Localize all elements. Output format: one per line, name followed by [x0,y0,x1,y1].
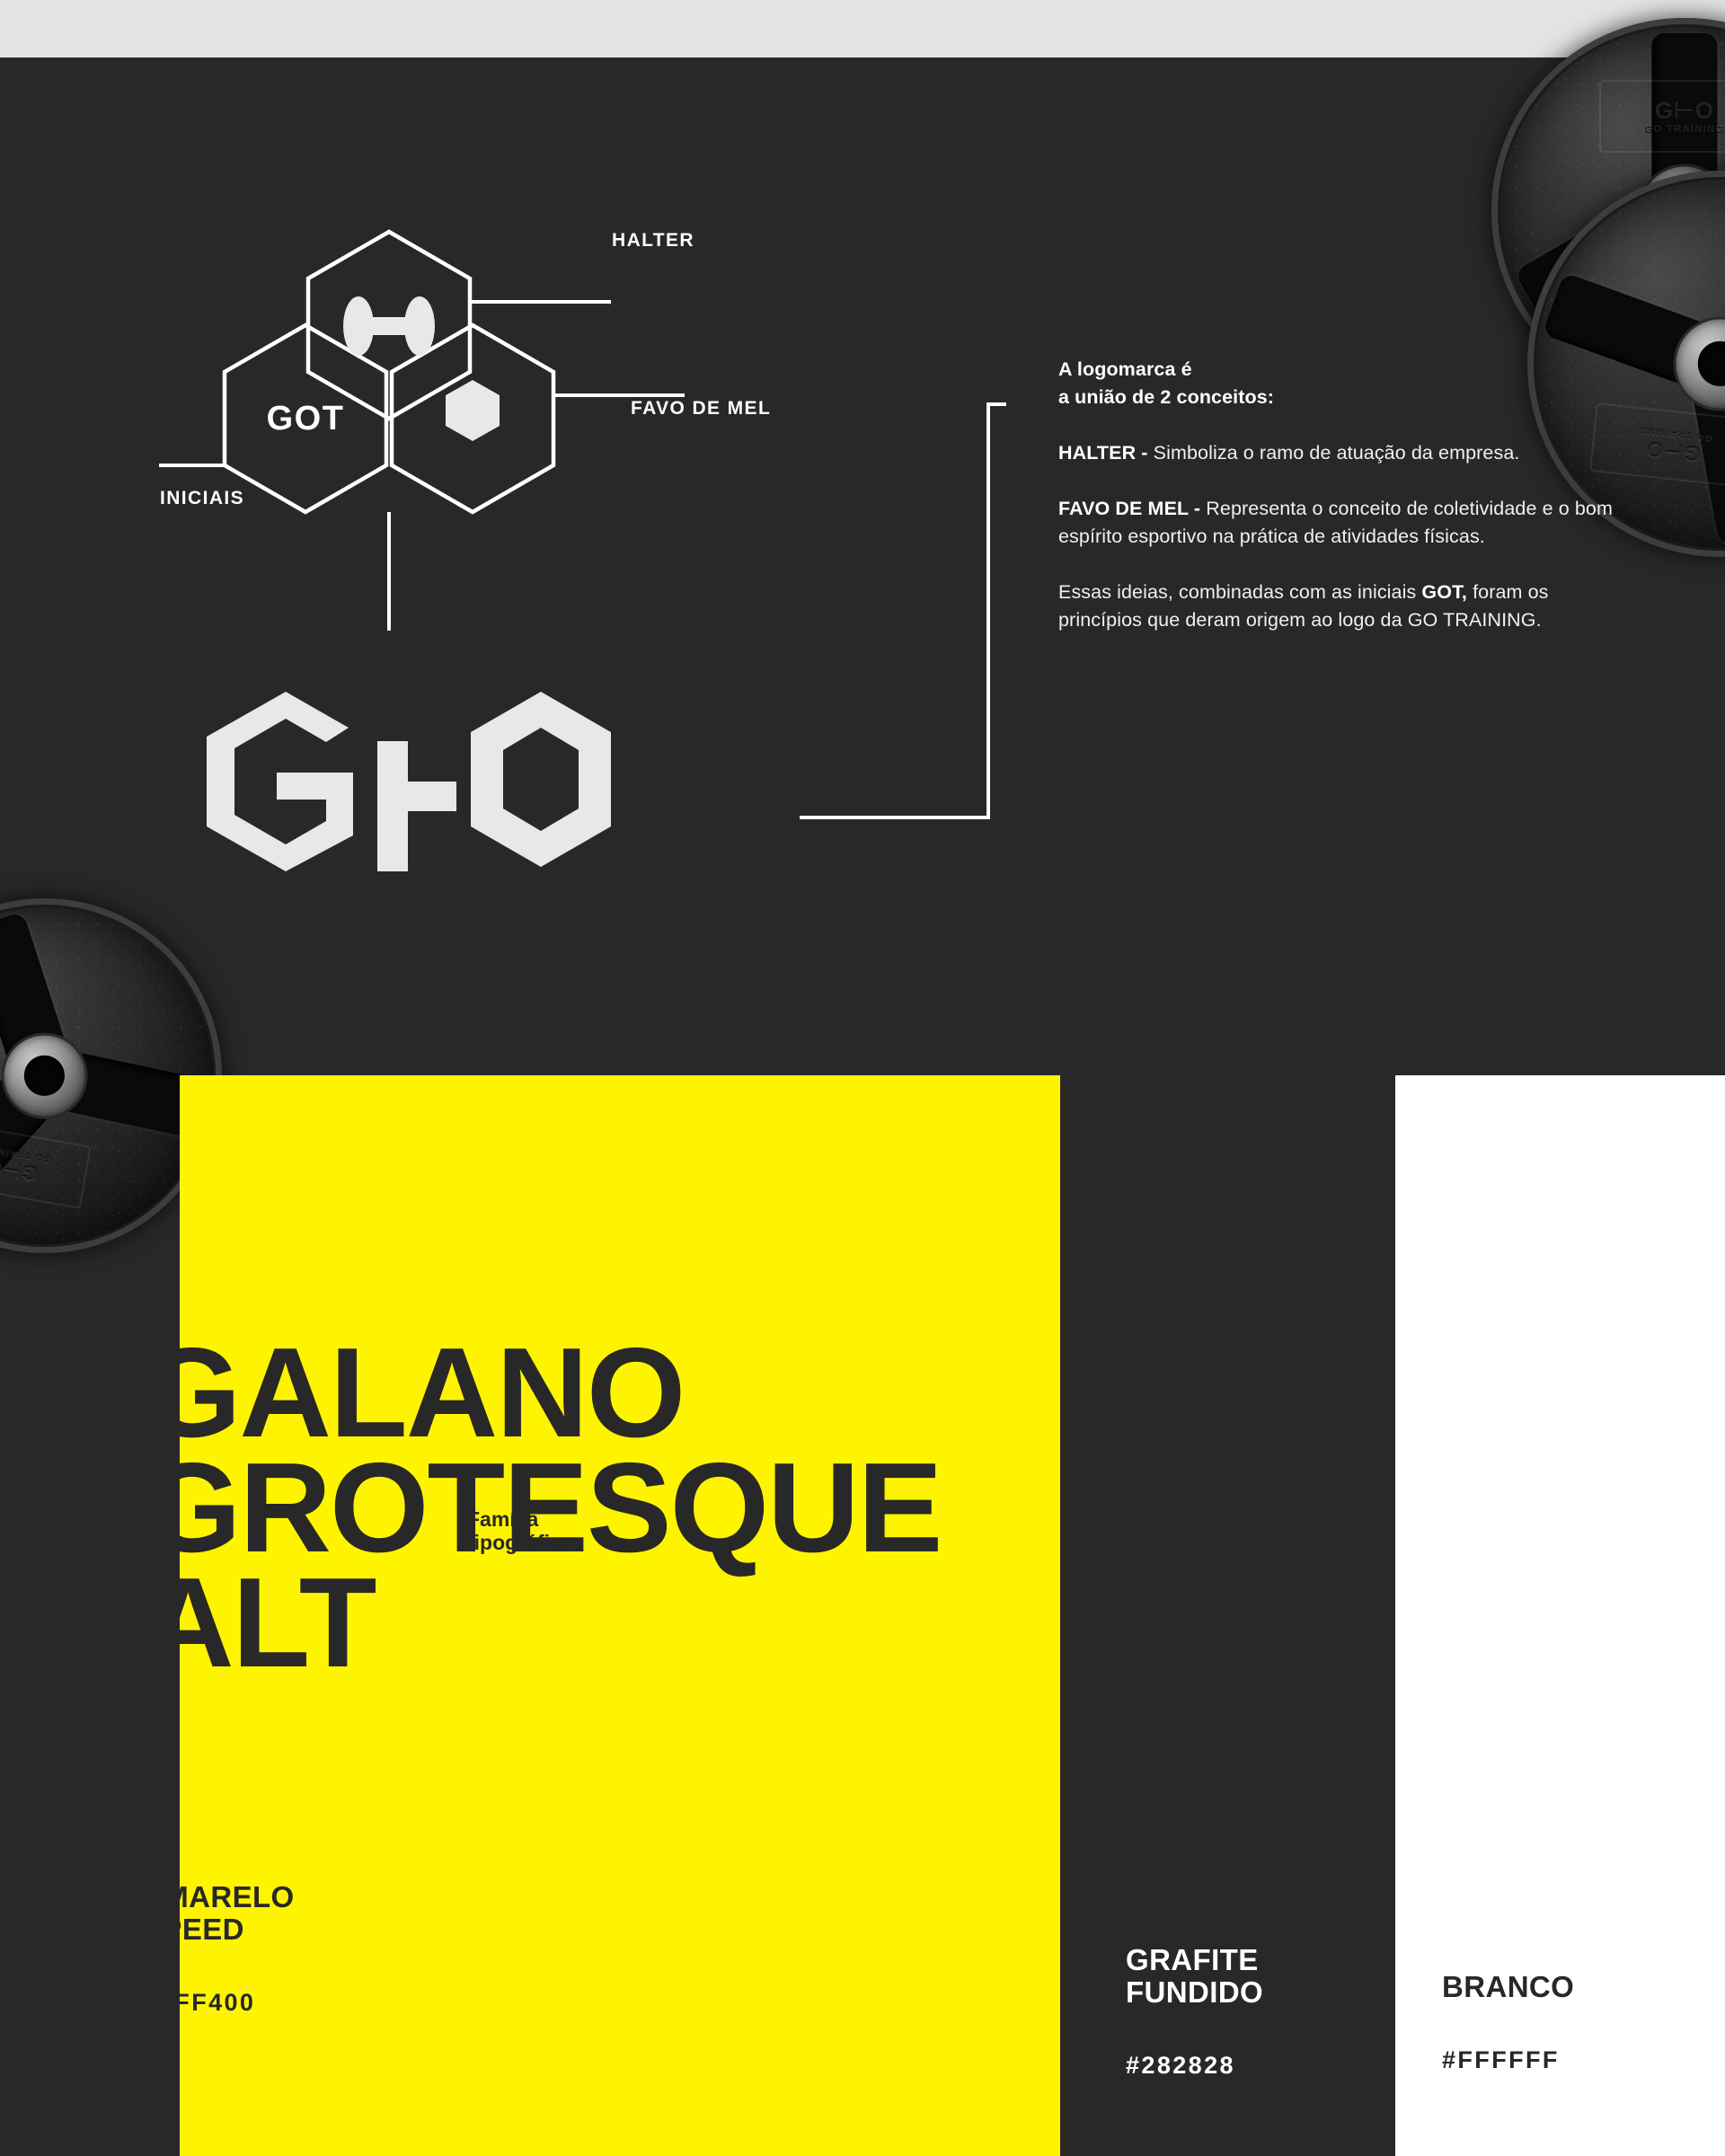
diagram-label-halter: HALTER [612,230,694,252]
diagram-initials-text: GOT [267,400,345,437]
info-body-halter: Simboliza o ramo de atuação da empresa. [1154,442,1520,464]
typeface-family-note: Família tipográfica [467,1507,573,1554]
swatch-hex-branco: #FFFFFF [1442,2046,1574,2074]
info-term-favo: FAVO DE MEL [1058,498,1189,519]
logo-construction-diagram: GOT [135,189,818,656]
diagram-label-iniciais: INICIAIS [160,488,244,509]
info-paragraph-closing: Essas ideias, combinadas com as iniciais… [1058,579,1615,634]
bracket-path [800,404,1006,817]
plate-hub [4,1035,85,1117]
logo-letter-t-bar [377,782,456,811]
info-dash: - [1189,498,1206,519]
swatch-caption-branco: BRANCO #FFFFFF [1442,1955,1574,2090]
plate-bore-hole [24,1056,65,1096]
concept-explanation-panel: A logomarca é a união de 2 conceitos: HA… [1058,356,1615,634]
plate-bore-hole [1698,341,1725,385]
info-closing-part1: Essas ideias, combinadas com as iniciais [1058,581,1421,603]
info-paragraph-favo: FAVO DE MEL - Representa o conceito de c… [1058,495,1615,551]
info-term-halter: HALTER [1058,442,1136,464]
logo-letter-g [207,692,353,871]
info-paragraph-halter: HALTER - Simboliza o ramo de atuação da … [1058,439,1615,467]
swatch-caption-amarelo: AMARELO SPEED #FFF400 [142,1865,295,2033]
swatch-block-amarelo-speed [180,1075,1060,2156]
swatch-name-grafite: GRAFITE FUNDIDO [1126,1944,1263,2009]
info-dash: - [1136,442,1153,464]
info-closing-emphasis: GOT, [1421,581,1467,603]
swatch-hex-amarelo: #FFF400 [142,1989,295,2017]
top-light-strip [0,0,1725,57]
logo-letter-o [471,692,611,867]
info-heading-line2: a união de 2 conceitos: [1058,384,1615,411]
logo-wordmark [207,692,611,871]
dumbbell-icon [343,296,435,356]
diagram-label-favo: FAVO DE MEL [631,398,771,420]
info-heading-line1: A logomarca é [1058,356,1615,384]
info-heading: A logomarca é a união de 2 conceitos: [1058,356,1615,411]
swatch-name-branco: BRANCO [1442,1971,1574,2003]
bracket-connector [800,395,1006,826]
honeycomb-cell-icon [446,380,500,441]
swatch-name-amarelo: AMARELO SPEED [142,1881,295,1946]
swatch-hex-grafite: #282828 [1126,2052,1263,2080]
swatch-caption-grafite: GRAFITE FUNDIDO #282828 [1126,1928,1263,2096]
